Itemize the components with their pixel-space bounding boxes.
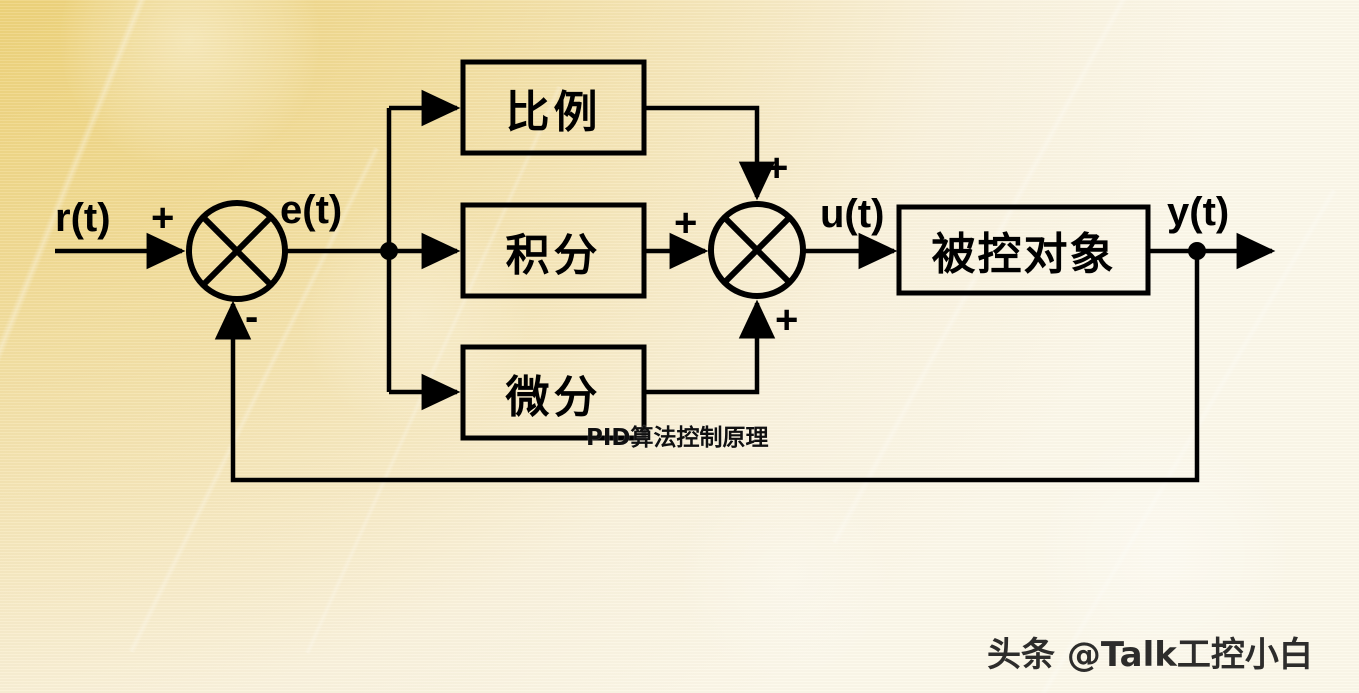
signal-label-output: y(t)	[1167, 192, 1229, 232]
block-label-integral: 积分	[463, 205, 644, 296]
sign-integral-plus: +	[674, 203, 697, 243]
branch-point-dot	[380, 242, 398, 260]
output-branch-dot	[1188, 242, 1206, 260]
block-label-proportional: 比例	[463, 62, 644, 153]
sign-derivative-plus: +	[775, 300, 798, 340]
sign-proportional-plus: +	[765, 148, 788, 188]
sign-feedback-minus: -	[245, 297, 258, 337]
line-derivative-to-sum	[644, 303, 757, 392]
line-proportional-to-sum	[644, 108, 757, 197]
block-label-plant: 被控对象	[899, 207, 1148, 293]
signal-label-reference: r(t)	[55, 198, 111, 238]
pid-block-diagram	[0, 0, 1359, 693]
figure-caption: PID算法控制原理	[586, 418, 769, 452]
signal-label-control: u(t)	[820, 194, 884, 234]
figure-canvas: 比例 积分 微分 被控对象 r(t) e(t) u(t) y(t) + - + …	[0, 0, 1359, 693]
signal-label-error: e(t)	[280, 190, 342, 230]
watermark-text: 头条 @Talk工控小白	[987, 627, 1313, 676]
sign-reference-plus: +	[151, 198, 174, 238]
